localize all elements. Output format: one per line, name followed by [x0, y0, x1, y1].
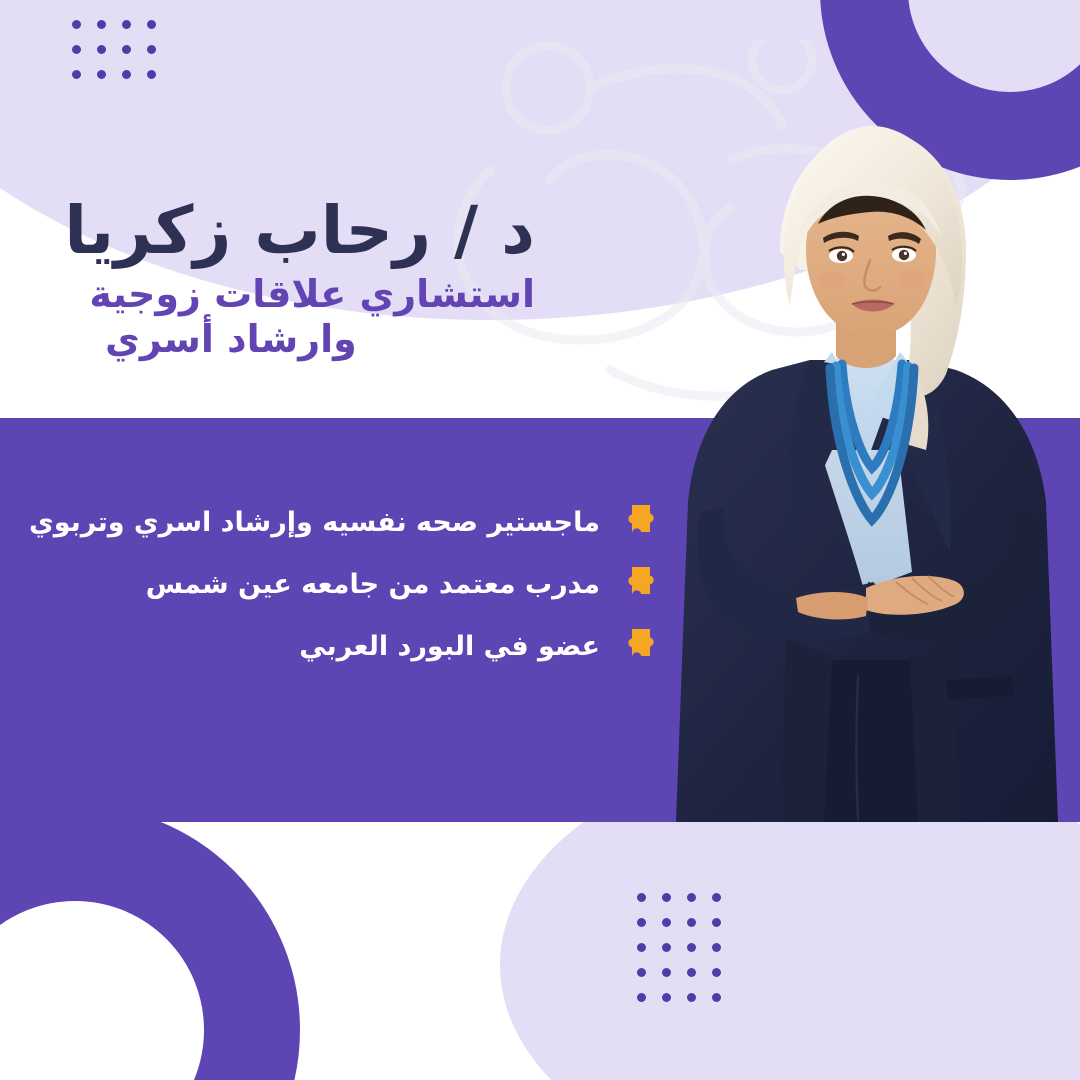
dot — [147, 20, 156, 29]
credentials-list: ماجستير صحه نفسيه وإرشاد اسري وتربوي مدر… — [100, 500, 660, 686]
dot — [712, 943, 721, 952]
dot — [97, 70, 106, 79]
dot — [687, 968, 696, 977]
promo-poster: د / رحاب زكريا استشاري علاقات زوجية وارش… — [0, 0, 1080, 1080]
dot — [712, 918, 721, 927]
dot — [637, 943, 646, 952]
portrait-photo — [660, 120, 1080, 822]
credential-item: عضو في البورد العربي — [100, 624, 660, 670]
dot — [662, 993, 671, 1002]
doctor-name: د / رحاب زكريا — [105, 196, 535, 266]
puzzle-piece-icon — [618, 502, 660, 544]
dot — [72, 20, 81, 29]
dot — [637, 993, 646, 1002]
dot — [662, 943, 671, 952]
dot — [97, 45, 106, 54]
dot — [687, 993, 696, 1002]
specialty-line-2: وارشاد أسري — [105, 317, 535, 362]
dot — [687, 918, 696, 927]
specialty-line-1: استشاري علاقات زوجية — [105, 272, 535, 317]
dot-grid-icon-bottom — [637, 893, 737, 1018]
puzzle-piece-icon — [618, 626, 660, 668]
dot — [662, 918, 671, 927]
dot — [122, 70, 131, 79]
dot — [637, 968, 646, 977]
puzzle-piece-icon — [618, 564, 660, 606]
dot — [147, 45, 156, 54]
credential-text: مدرب معتمد من جامعه عين شمس — [146, 569, 600, 601]
dot — [712, 968, 721, 977]
specialty-block: استشاري علاقات زوجية وارشاد أسري — [105, 272, 535, 362]
dot-grid-icon-top — [72, 20, 172, 95]
dot — [122, 20, 131, 29]
dot — [97, 20, 106, 29]
dot — [712, 893, 721, 902]
header-text-block: د / رحاب زكريا استشاري علاقات زوجية وارش… — [105, 196, 535, 362]
dot — [662, 893, 671, 902]
dot — [687, 943, 696, 952]
bottom-left-ring-icon — [0, 805, 300, 1080]
dot — [72, 70, 81, 79]
credential-item: مدرب معتمد من جامعه عين شمس — [100, 562, 660, 608]
credential-item: ماجستير صحه نفسيه وإرشاد اسري وتربوي — [100, 500, 660, 546]
dot — [637, 918, 646, 927]
credential-text: عضو في البورد العربي — [299, 631, 600, 663]
dot — [72, 45, 81, 54]
dot — [662, 968, 671, 977]
dot — [122, 45, 131, 54]
dot — [637, 893, 646, 902]
dot — [147, 70, 156, 79]
dot — [712, 993, 721, 1002]
dot — [687, 893, 696, 902]
credential-text: ماجستير صحه نفسيه وإرشاد اسري وتربوي — [29, 507, 600, 539]
